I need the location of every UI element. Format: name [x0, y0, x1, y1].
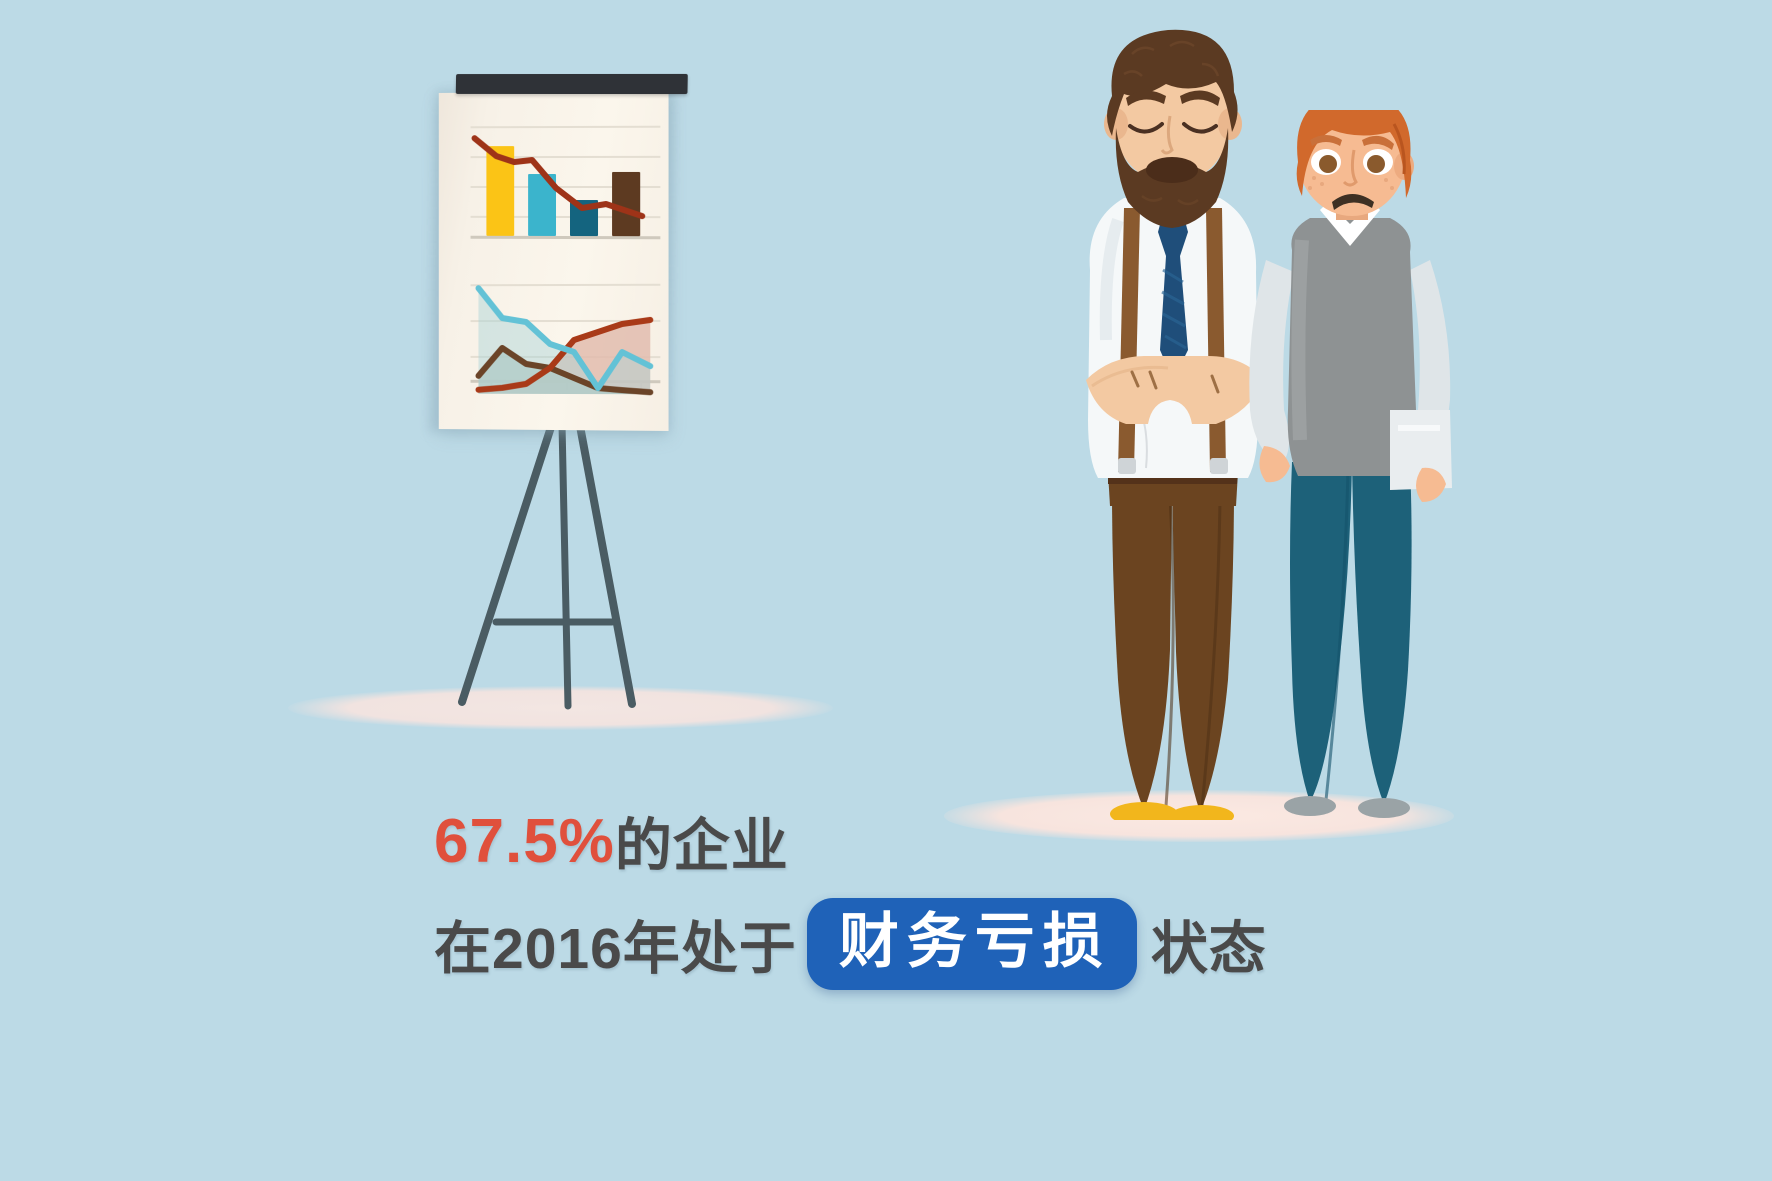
area-series-group [471, 272, 661, 399]
businesswoman [1240, 110, 1510, 820]
area-line-chart [471, 272, 661, 399]
caption-line-2: 在2016年处于 财务亏损 状态 [434, 898, 1434, 990]
easel-tripod [380, 420, 680, 710]
trendline [471, 120, 661, 249]
stat-percentage: 67.5% [434, 806, 615, 877]
man-right-leg [1172, 490, 1234, 812]
financial-loss-badge: 财务亏损 [807, 898, 1137, 990]
woman-right-leg [1352, 462, 1412, 804]
illustration-scene: 67.5% 的企业 在2016年处于 财务亏损 状态 [0, 0, 1772, 1181]
man-left-leg [1112, 490, 1172, 810]
caption-line-1-rest: 的企业 [615, 800, 789, 882]
caption-line-2-after: 状态 [1151, 903, 1267, 985]
woman-left-arm [1249, 260, 1294, 466]
bar-chart-with-trendline [471, 120, 661, 249]
woman-left-leg [1290, 462, 1352, 802]
caption-line-1: 67.5% 的企业 [434, 800, 1434, 882]
flipchart-clip [456, 74, 688, 94]
man-mouth [1146, 157, 1198, 183]
caption-block: 67.5% 的企业 在2016年处于 财务亏损 状态 [434, 800, 1434, 990]
caption-line-2-before: 在2016年处于 [434, 903, 797, 985]
